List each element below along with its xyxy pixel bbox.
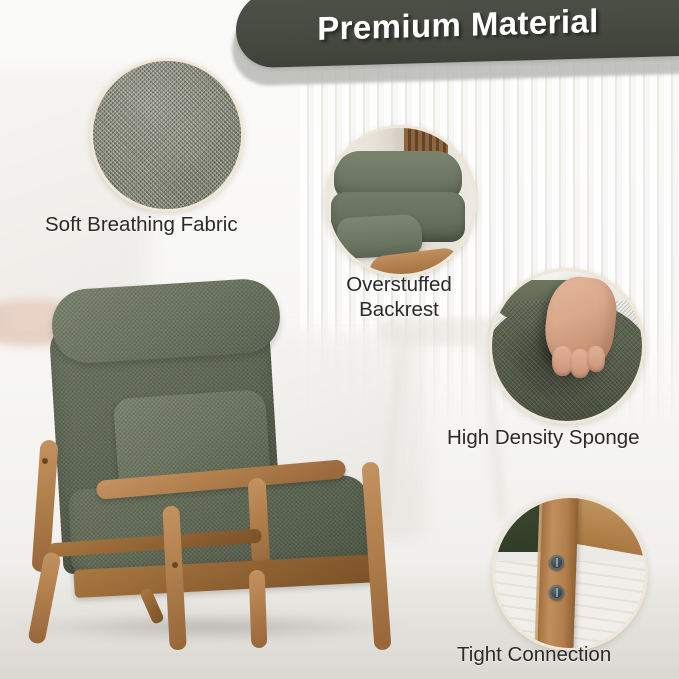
- chair-headrest: [50, 277, 282, 365]
- feature-label-high-density-sponge: High Density Sponge: [447, 425, 679, 450]
- feature-label-soft-breathing-fabric: Soft Breathing Fabric: [45, 212, 305, 237]
- feature-label-line-2: Backrest: [318, 297, 480, 322]
- feature-label-tight-connection: Tight Connection: [457, 642, 679, 667]
- fist-knuckle-3: [587, 346, 605, 372]
- backrest-closeup-image: [325, 125, 477, 277]
- chair-leg-front-right: [249, 570, 268, 649]
- fabric-swatch-image: [90, 58, 244, 212]
- chair-frame-screw-upper: [42, 458, 48, 464]
- fabric-weave-texture: [93, 61, 241, 209]
- feature-label-overstuffed-backrest: Overstuffed Backrest: [318, 272, 480, 322]
- joint-wood-leg: [537, 495, 579, 651]
- wood-joint-closeup-image: [492, 495, 648, 651]
- joint-screw-lower: [549, 585, 564, 600]
- chair-frame-screw-lower: [172, 562, 178, 568]
- infographic-canvas: Premium Material Soft Breathing Fabric: [0, 0, 679, 679]
- feature-label-line-1: Overstuffed: [318, 272, 480, 297]
- sponge-closeup-image: [489, 268, 645, 424]
- joint-screw-upper: [549, 555, 564, 570]
